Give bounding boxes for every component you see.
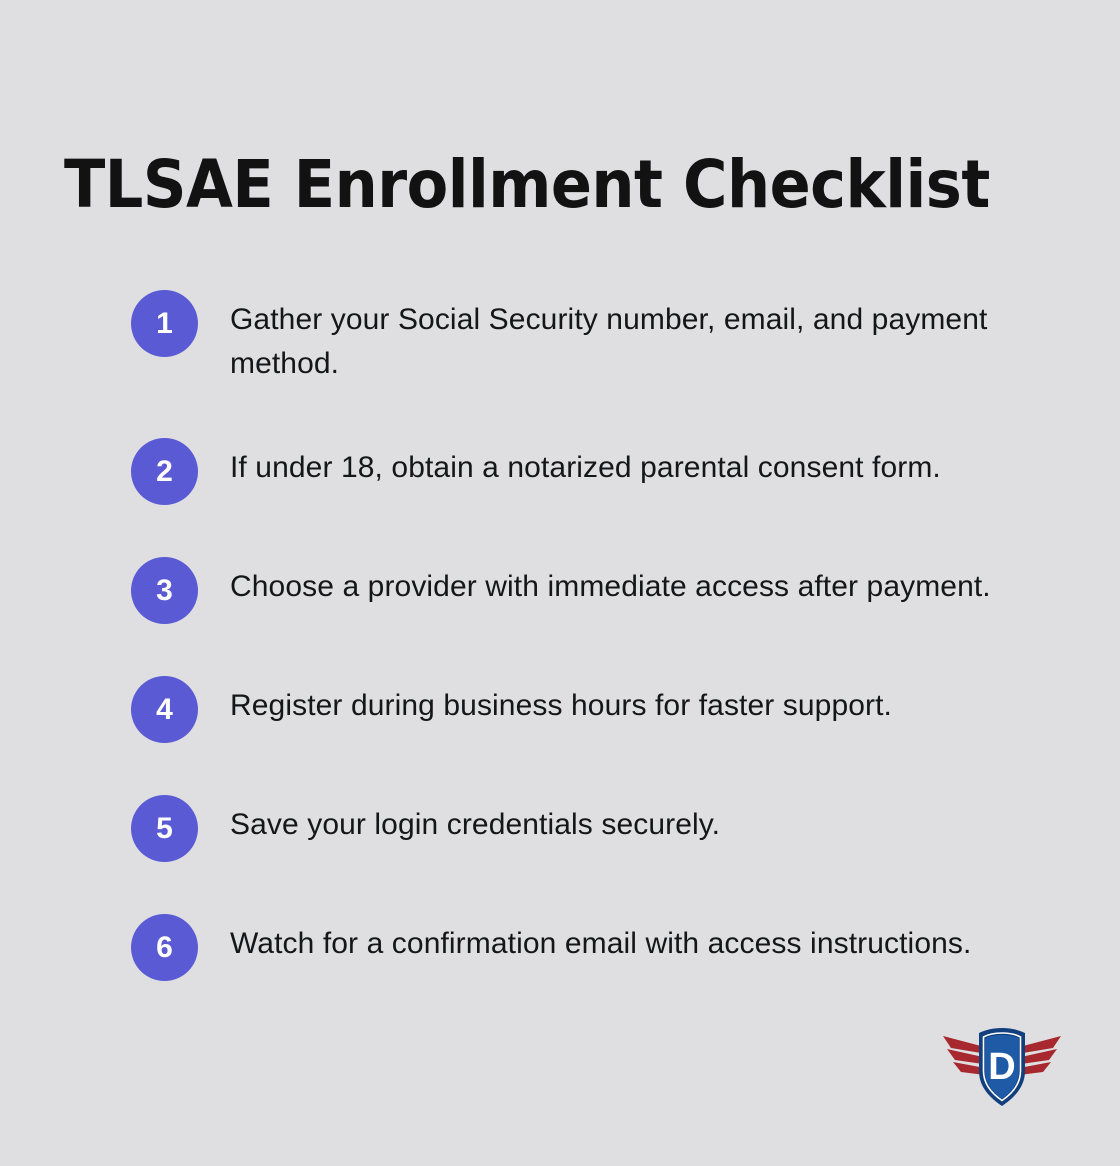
infographic-canvas: TLSAE Enrollment Checklist 1 Gather your… (0, 0, 1120, 1166)
winged-shield-logo: D (941, 1026, 1063, 1108)
checklist: 1 Gather your Social Security number, em… (131, 290, 1061, 981)
winged-shield-icon: D (941, 1026, 1063, 1108)
list-item: 3 Choose a provider with immediate acces… (131, 557, 1061, 624)
list-item-text: Register during business hours for faste… (230, 676, 1061, 728)
list-item-text: Gather your Social Security number, emai… (230, 290, 1061, 386)
page-title: TLSAE Enrollment Checklist (64, 150, 1023, 219)
list-item-number-badge: 5 (131, 795, 198, 862)
list-item: 5 Save your login credentials securely. (131, 795, 1061, 862)
list-item-number-badge: 3 (131, 557, 198, 624)
list-item: 2 If under 18, obtain a notarized parent… (131, 438, 1061, 505)
list-item: 6 Watch for a confirmation email with ac… (131, 914, 1061, 981)
list-item-number-badge: 4 (131, 676, 198, 743)
list-item: 4 Register during business hours for fas… (131, 676, 1061, 743)
list-item-text: Choose a provider with immediate access … (230, 557, 1061, 609)
list-item-text: Watch for a confirmation email with acce… (230, 914, 1061, 966)
logo-letter: D (988, 1046, 1015, 1088)
list-item-text: Save your login credentials securely. (230, 795, 1061, 847)
list-item-text: If under 18, obtain a notarized parental… (230, 438, 1061, 490)
list-item-number-badge: 2 (131, 438, 198, 505)
list-item-number-badge: 1 (131, 290, 198, 357)
list-item: 1 Gather your Social Security number, em… (131, 290, 1061, 386)
right-wing-icon (1019, 1036, 1061, 1075)
list-item-number-badge: 6 (131, 914, 198, 981)
left-wing-icon (943, 1036, 985, 1075)
